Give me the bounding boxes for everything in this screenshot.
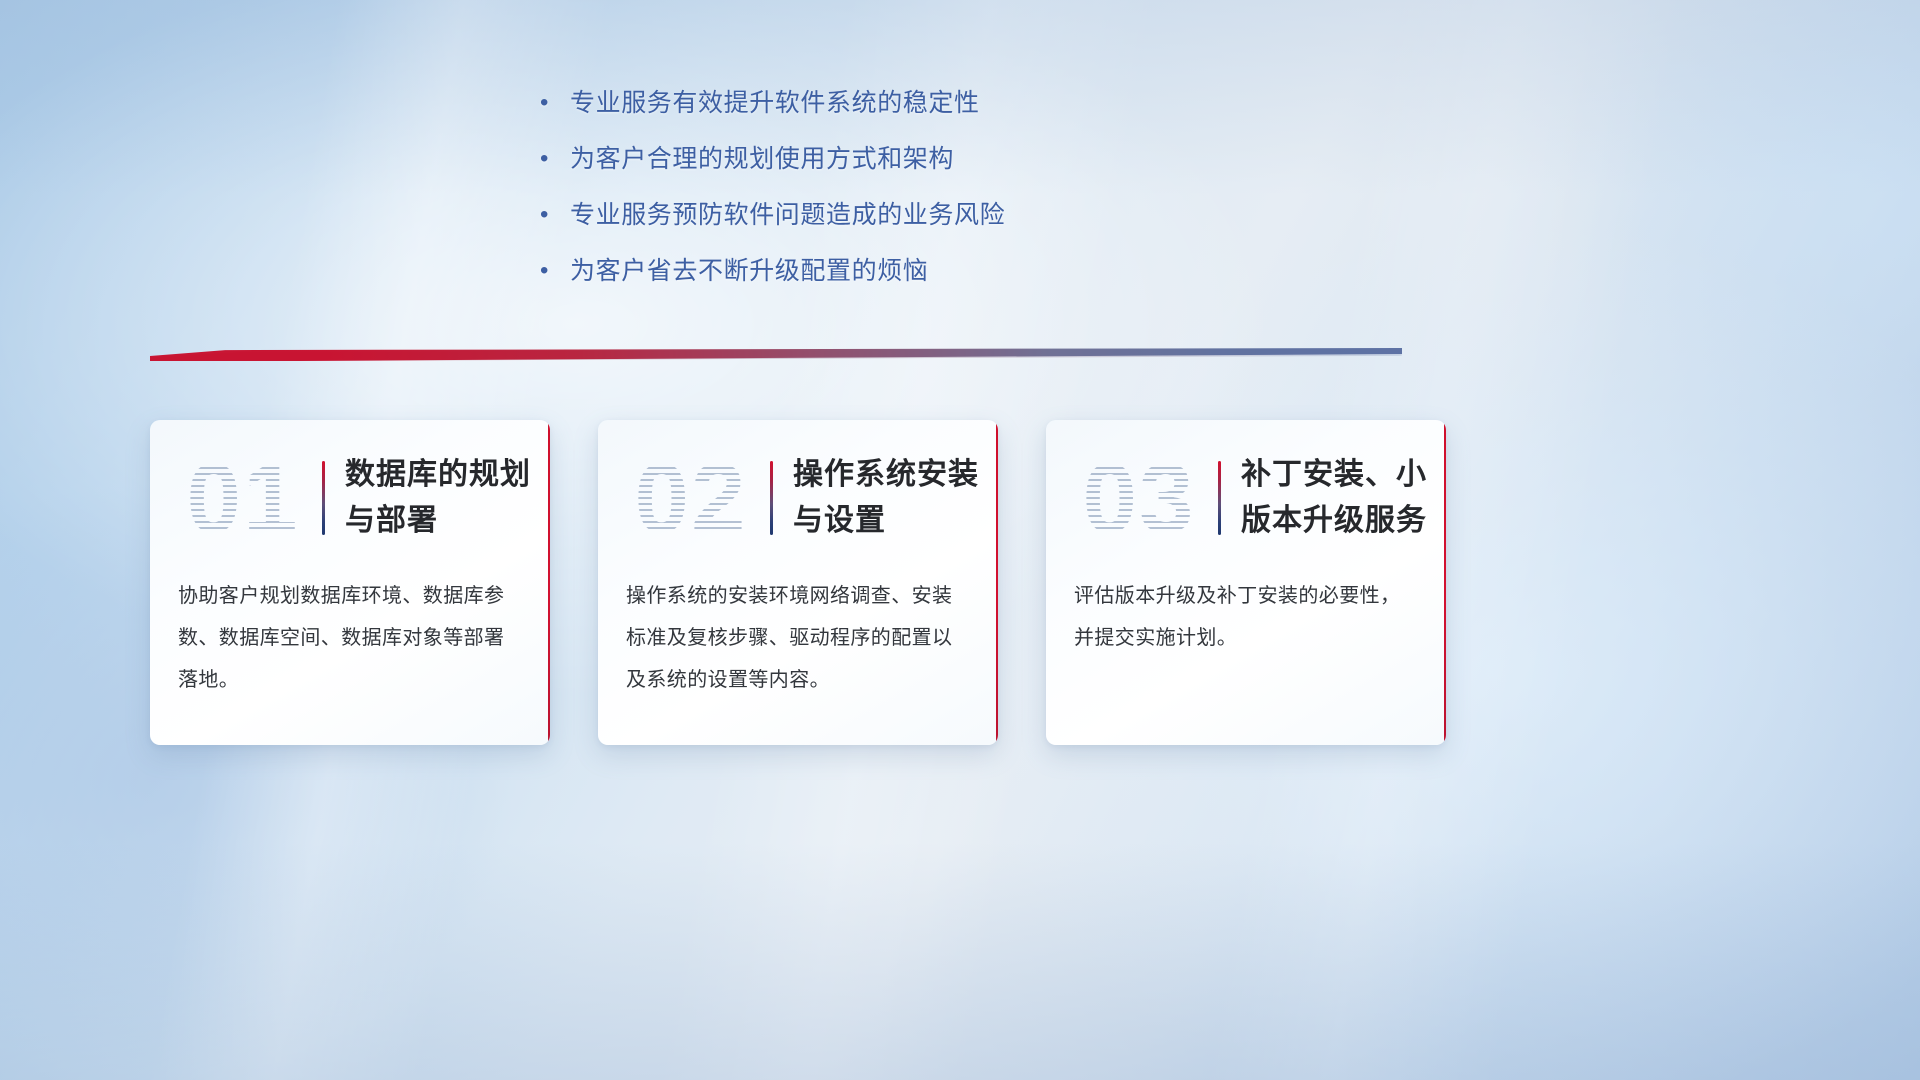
- service-card-row: 01 数据库的规划与部署 协助客户规划数据库环境、数据库参数、数据库空间、数据库…: [150, 420, 1770, 745]
- slide-canvas: • 专业服务有效提升软件系统的稳定性 • 为客户合理的规划使用方式和架构 • 专…: [0, 0, 1920, 1080]
- card-accent-rule: [1218, 461, 1221, 535]
- bullet-dot-icon: •: [540, 142, 570, 176]
- section-divider: [150, 348, 1402, 361]
- bullet-dot-icon: •: [540, 198, 570, 232]
- bullet-dot-icon: •: [540, 86, 570, 120]
- service-card-01[interactable]: 01 数据库的规划与部署 协助客户规划数据库环境、数据库参数、数据库空间、数据库…: [150, 420, 550, 745]
- card-header: 01 数据库的规划与部署: [150, 420, 550, 575]
- card-number: 03: [1064, 443, 1214, 553]
- card-header: 03 补丁安装、小版本升级服务: [1046, 420, 1446, 575]
- card-accent-rule: [770, 461, 773, 535]
- card-accent-rule: [322, 461, 325, 535]
- card-title: 补丁安装、小版本升级服务: [1241, 452, 1446, 544]
- bullet-dot-icon: •: [540, 254, 570, 288]
- bullet-text: 为客户省去不断升级配置的烦恼: [570, 254, 928, 288]
- list-item: • 专业服务预防软件问题造成的业务风险: [540, 198, 1180, 232]
- divider-blade: [150, 348, 1402, 361]
- bullet-text: 专业服务有效提升软件系统的稳定性: [570, 86, 980, 120]
- card-description: 评估版本升级及补丁安装的必要性，并提交实施计划。: [1046, 575, 1446, 659]
- card-description: 操作系统的安装环境网络调查、安装标准及复核步骤、驱动程序的配置以及系统的设置等内…: [598, 575, 998, 701]
- card-header: 02 操作系统安装与设置: [598, 420, 998, 575]
- benefits-bullet-list: • 专业服务有效提升软件系统的稳定性 • 为客户合理的规划使用方式和架构 • 专…: [540, 86, 1180, 310]
- bullet-text: 专业服务预防软件问题造成的业务风险: [570, 198, 1005, 232]
- list-item: • 为客户合理的规划使用方式和架构: [540, 142, 1180, 176]
- service-card-03[interactable]: 03 补丁安装、小版本升级服务 评估版本升级及补丁安装的必要性，并提交实施计划。: [1046, 420, 1446, 745]
- card-description: 协助客户规划数据库环境、数据库参数、数据库空间、数据库对象等部署落地。: [150, 575, 550, 701]
- card-number: 01: [168, 443, 318, 553]
- card-number: 02: [616, 443, 766, 553]
- service-card-02[interactable]: 02 操作系统安装与设置 操作系统的安装环境网络调查、安装标准及复核步骤、驱动程…: [598, 420, 998, 745]
- bullet-text: 为客户合理的规划使用方式和架构: [570, 142, 954, 176]
- list-item: • 为客户省去不断升级配置的烦恼: [540, 254, 1180, 288]
- card-title: 数据库的规划与部署: [345, 452, 550, 544]
- card-title: 操作系统安装与设置: [793, 452, 998, 544]
- list-item: • 专业服务有效提升软件系统的稳定性: [540, 86, 1180, 120]
